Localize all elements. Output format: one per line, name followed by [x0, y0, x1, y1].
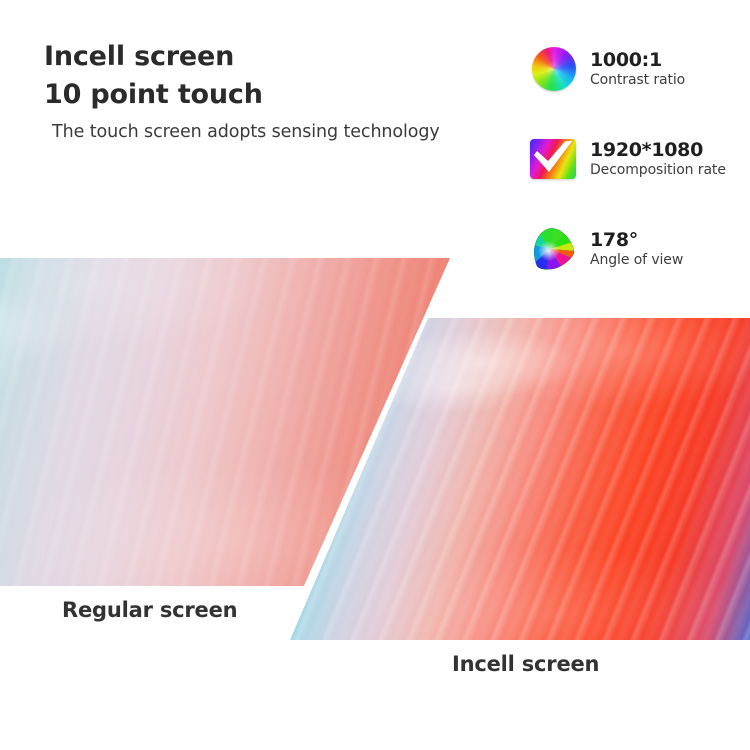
- subheadline: The touch screen adopts sensing technolo…: [52, 122, 514, 142]
- caption-incell-screen: Incell screen: [452, 652, 599, 676]
- spec-item-decomposition-rate: 1920*1080 Decomposition rate: [530, 128, 750, 190]
- color-gamut-icon: [530, 225, 578, 273]
- color-wheel-icon: [530, 45, 578, 93]
- spec-label-decomposition-rate: Decomposition rate: [590, 161, 726, 180]
- headline-line-1: Incell screen: [44, 38, 514, 76]
- product-feature-graphic: Incell screen 10 point touch The touch s…: [0, 0, 750, 750]
- check-mark-icon: [533, 141, 573, 177]
- header-text-block: Incell screen 10 point touch The touch s…: [44, 38, 514, 142]
- spec-value-contrast-ratio: 1000:1: [590, 49, 685, 71]
- spec-text-decomposition-rate: 1920*1080 Decomposition rate: [590, 139, 726, 180]
- spec-list: 1000:1 Contrast ratio 1920*1080 Decompos…: [530, 38, 750, 308]
- chromaticity-diagram-icon: [530, 227, 576, 271]
- spec-label-angle-of-view: Angle of view: [590, 251, 683, 270]
- spec-text-contrast-ratio: 1000:1 Contrast ratio: [590, 49, 685, 90]
- spec-item-angle-of-view: 178° Angle of view: [530, 218, 750, 280]
- spec-label-contrast-ratio: Contrast ratio: [590, 71, 685, 90]
- spec-value-decomposition-rate: 1920*1080: [590, 139, 726, 161]
- spec-item-contrast-ratio: 1000:1 Contrast ratio: [530, 38, 750, 100]
- spec-value-angle-of-view: 178°: [590, 229, 683, 251]
- gradient-check-icon: [530, 135, 578, 183]
- headline-line-2: 10 point touch: [44, 76, 514, 114]
- caption-regular-screen: Regular screen: [62, 598, 237, 622]
- spec-text-angle-of-view: 178° Angle of view: [590, 229, 683, 270]
